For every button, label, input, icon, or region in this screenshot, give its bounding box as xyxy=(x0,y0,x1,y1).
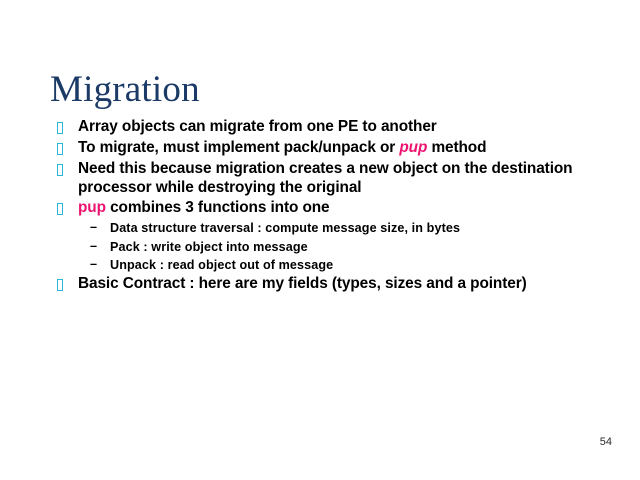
bullet-item-level1: Basic Contract : here are my fields (typ… xyxy=(52,275,582,294)
bullet-item-level2: –Pack : write object into message xyxy=(90,239,582,255)
bullet-text: Unpack : read object out of message xyxy=(110,257,582,273)
bullet-text: Need this because migration creates a ne… xyxy=(78,160,582,197)
text-run: Need this because migration creates a ne… xyxy=(78,160,572,196)
text-run: Basic Contract : here are my fields (typ… xyxy=(78,275,527,292)
bullet-tofu-box-icon xyxy=(52,160,78,179)
accent-term: pup xyxy=(78,199,106,216)
tofu-box-glyph xyxy=(57,164,63,176)
slide-title: Migration xyxy=(50,71,200,108)
slide-body-content: Array objects can migrate from one PE to… xyxy=(52,118,582,296)
bullet-text: pup combines 3 functions into one xyxy=(78,199,582,218)
text-run: To migrate, must implement pack/unpack o… xyxy=(78,139,399,156)
tofu-box-glyph xyxy=(57,279,63,291)
bullet-item-level1: To migrate, must implement pack/unpack o… xyxy=(52,139,582,158)
bullet-tofu-box-icon xyxy=(52,199,78,218)
bullet-item-level1: Need this because migration creates a ne… xyxy=(52,160,582,197)
tofu-box-glyph xyxy=(57,122,63,134)
presentation-slide: Migration Array objects can migrate from… xyxy=(0,0,640,480)
text-run: Array objects can migrate from one PE to… xyxy=(78,118,437,135)
text-run: Unpack : read object out of message xyxy=(110,258,333,272)
bullet-item-level2: –Data structure traversal : compute mess… xyxy=(90,220,582,236)
bullet-text: To migrate, must implement pack/unpack o… xyxy=(78,139,582,158)
bullet-text: Array objects can migrate from one PE to… xyxy=(78,118,582,137)
bullet-item-level1: pup combines 3 functions into one xyxy=(52,199,582,218)
bullet-item-level2: –Unpack : read object out of message xyxy=(90,257,582,273)
bullet-tofu-box-icon xyxy=(52,139,78,158)
bullet-dash-icon: – xyxy=(90,239,110,255)
tofu-box-glyph xyxy=(57,143,63,155)
bullet-tofu-box-icon xyxy=(52,118,78,137)
bullet-text: Basic Contract : here are my fields (typ… xyxy=(78,275,582,294)
text-run: Data structure traversal : compute messa… xyxy=(110,221,460,235)
bullet-tofu-box-icon xyxy=(52,275,78,294)
bullet-text: Pack : write object into message xyxy=(110,239,582,255)
bullet-item-level1: Array objects can migrate from one PE to… xyxy=(52,118,582,137)
text-run: Pack : write object into message xyxy=(110,240,308,254)
bullet-text: Data structure traversal : compute messa… xyxy=(110,220,582,236)
text-run: combines 3 functions into one xyxy=(106,199,330,216)
tofu-box-glyph xyxy=(57,203,63,215)
accent-term-italic: pup xyxy=(399,139,427,156)
bullet-dash-icon: – xyxy=(90,257,110,273)
text-run: method xyxy=(427,139,486,156)
bullet-dash-icon: – xyxy=(90,220,110,236)
slide-page-number: 54 xyxy=(600,436,612,448)
